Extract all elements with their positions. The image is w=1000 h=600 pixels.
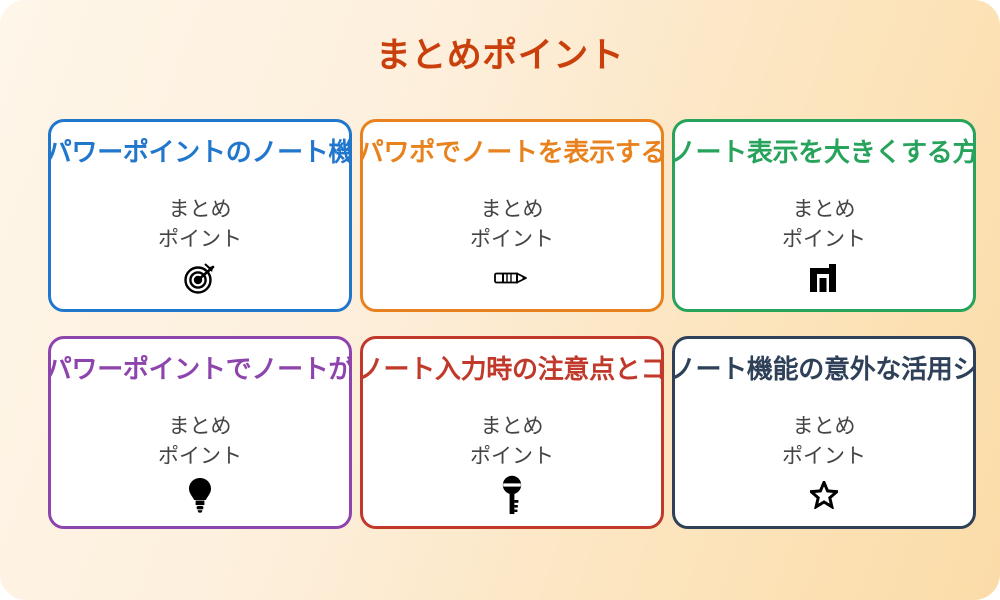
summary-card-2[interactable]: パワポでノートを表示する まとめ ポイント [360,119,664,312]
lightbulb-icon [51,475,349,515]
pencil-icon [363,258,661,298]
page-title: まとめポイント [0,27,1000,78]
summary-card-5[interactable]: ノート入力時の注意点とコ まとめ ポイント [360,336,664,529]
summary-card-4[interactable]: パワーポイントでノートが まとめ ポイント [48,336,352,529]
summary-card-6-body: まとめ ポイント [675,412,973,472]
summary-card-3-body: まとめ ポイント [675,195,973,255]
summary-card-1-title: パワーポイントのノート機 [48,138,352,168]
summary-card-1-body: まとめ ポイント [51,195,349,255]
summary-card-5-body: まとめ ポイント [363,412,661,472]
summary-card-3-title: ノート表示を大きくする方 [672,138,976,168]
summary-card-4-title: パワーポイントでノートが [48,355,352,385]
summary-card-3[interactable]: ノート表示を大きくする方 まとめ ポイント [672,119,976,312]
summary-card-2-title: パワポでノートを表示する [360,138,664,168]
slide-canvas: まとめポイント パワーポイントのノート機 まとめ ポイント パワポでノートを表示… [0,0,1000,600]
summary-point-grid: パワーポイントのノート機 まとめ ポイント パワポでノートを表示する まとめ ポ… [48,119,964,529]
summary-card-6[interactable]: ノート機能の意外な活用シ まとめ ポイント [672,336,976,529]
dart-target-icon [51,258,349,298]
summary-card-6-title: ノート機能の意外な活用シ [672,355,976,385]
summary-card-5-title: ノート入力時の注意点とコ [360,355,664,385]
summary-card-4-body: まとめ ポイント [51,412,349,472]
summary-card-1[interactable]: パワーポイントのノート機 まとめ ポイント [48,119,352,312]
summary-card-2-body: まとめ ポイント [363,195,661,255]
bar-chart-icon [675,258,973,298]
key-icon [363,475,661,515]
star-icon [675,475,973,515]
